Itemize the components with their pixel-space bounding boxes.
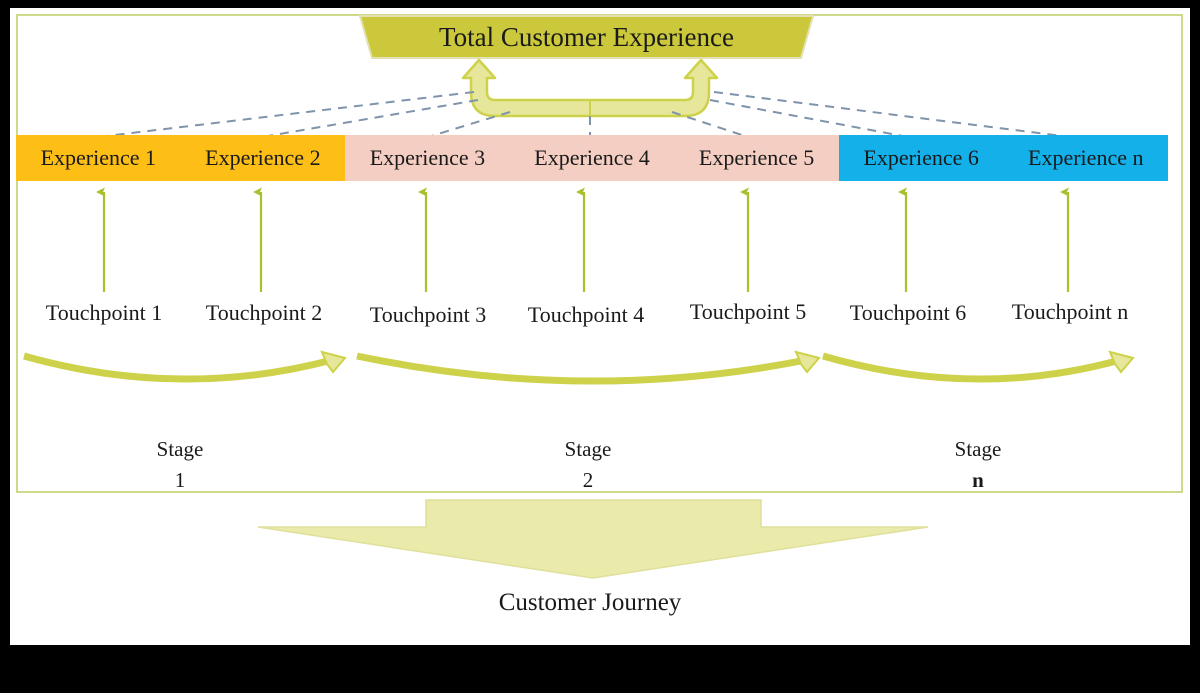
diagram-frame — [16, 14, 1183, 493]
stage-index-1: 1 — [100, 465, 260, 496]
experience-cell-3[interactable]: Experience 3 — [345, 135, 510, 181]
experience-label-4: Experience 4 — [534, 145, 649, 171]
touchpoint-label-2: Touchpoint 2 — [184, 300, 344, 326]
experience-label-7: Experience n — [1028, 145, 1143, 171]
stage-index-2: 2 — [508, 465, 668, 496]
experience-label-2: Experience 2 — [205, 145, 320, 171]
experience-band: Experience 1 Experience 2 Experience 3 E… — [16, 135, 1168, 181]
experience-cell-4[interactable]: Experience 4 — [510, 135, 675, 181]
stage-name-2: Stage — [508, 434, 668, 465]
touchpoint-label-4: Touchpoint 4 — [506, 302, 666, 328]
stage-index-3: n — [898, 465, 1058, 496]
experience-label-6: Experience 6 — [863, 145, 978, 171]
touchpoint-label-7: Touchpoint n — [990, 299, 1150, 325]
touchpoint-label-5: Touchpoint 5 — [668, 299, 828, 325]
touchpoint-label-1: Touchpoint 1 — [24, 300, 184, 326]
experience-cell-1[interactable]: Experience 1 — [16, 135, 181, 181]
stage-label-3: Stage n — [898, 434, 1058, 496]
diagram-canvas: Total Customer Experience Experience 1 E… — [0, 0, 1200, 693]
experience-cell-6[interactable]: Experience 6 — [839, 135, 1004, 181]
experience-cell-7[interactable]: Experience n — [1003, 135, 1168, 181]
customer-journey-caption: Customer Journey — [340, 589, 840, 617]
experience-cell-2[interactable]: Experience 2 — [181, 135, 346, 181]
stage-name-3: Stage — [898, 434, 1058, 465]
page-title: Total Customer Experience — [360, 18, 813, 56]
experience-label-1: Experience 1 — [41, 145, 156, 171]
touchpoint-label-3: Touchpoint 3 — [348, 302, 508, 328]
touchpoint-label-6: Touchpoint 6 — [828, 300, 988, 326]
experience-cell-5[interactable]: Experience 5 — [674, 135, 839, 181]
stage-name-1: Stage — [100, 434, 260, 465]
experience-label-5: Experience 5 — [699, 145, 814, 171]
experience-label-3: Experience 3 — [370, 145, 485, 171]
stage-label-2: Stage 2 — [508, 434, 668, 496]
stage-label-1: Stage 1 — [100, 434, 260, 496]
